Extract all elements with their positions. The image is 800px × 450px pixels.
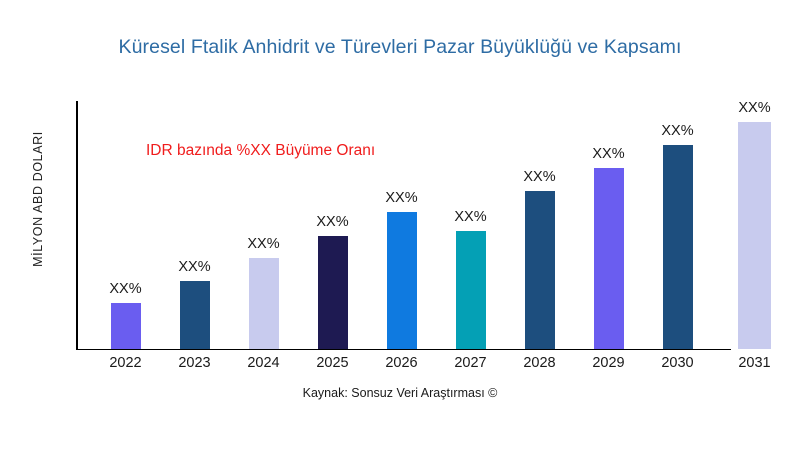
x-tick-label-2028: 2028: [523, 355, 555, 371]
bar-value-label: XX%: [385, 190, 417, 206]
x-tick-label-2022: 2022: [109, 355, 141, 371]
bar-2023: [180, 281, 210, 349]
bar-2024: [249, 258, 279, 349]
x-tick-label-2027: 2027: [454, 355, 486, 371]
x-tick-label-2031: 2031: [738, 355, 770, 371]
bar-value-label: XX%: [109, 281, 141, 297]
x-tick-label-2026: 2026: [385, 355, 417, 371]
bar-2029: [594, 168, 624, 349]
bar-value-label: XX%: [592, 146, 624, 162]
x-tick-label-2023: 2023: [178, 355, 210, 371]
bar-2022: [111, 303, 141, 349]
x-tick-label-2025: 2025: [316, 355, 348, 371]
x-tick-label-2030: 2030: [661, 355, 693, 371]
bar-value-label: XX%: [523, 169, 555, 185]
bar-2028: [525, 191, 555, 349]
y-axis-spine: [76, 101, 78, 350]
bar-value-label: XX%: [454, 209, 486, 225]
bar-2026: [387, 212, 417, 349]
bar-2027: [456, 231, 486, 349]
bar-value-label: XX%: [178, 259, 210, 275]
bar-value-label: XX%: [738, 100, 770, 116]
bar-2031: [738, 122, 771, 349]
chart-page: Küresel Ftalik Anhidrit ve Türevleri Paz…: [0, 0, 800, 450]
bar-chart-plot-area: XX%2022XX%2023XX%2024XX%2025XX%2026XX%20…: [0, 0, 800, 450]
bar-value-label: XX%: [247, 236, 279, 252]
bar-value-label: XX%: [316, 214, 348, 230]
bar-2025: [318, 236, 348, 349]
growth-rate-annotation: IDR bazında %XX Büyüme Oranı: [146, 142, 375, 160]
bar-2030: [663, 145, 693, 349]
source-note: Kaynak: Sonsuz Veri Araştırması ©: [0, 386, 800, 400]
bar-value-label: XX%: [661, 123, 693, 139]
x-tick-label-2029: 2029: [592, 355, 624, 371]
x-tick-label-2024: 2024: [247, 355, 279, 371]
